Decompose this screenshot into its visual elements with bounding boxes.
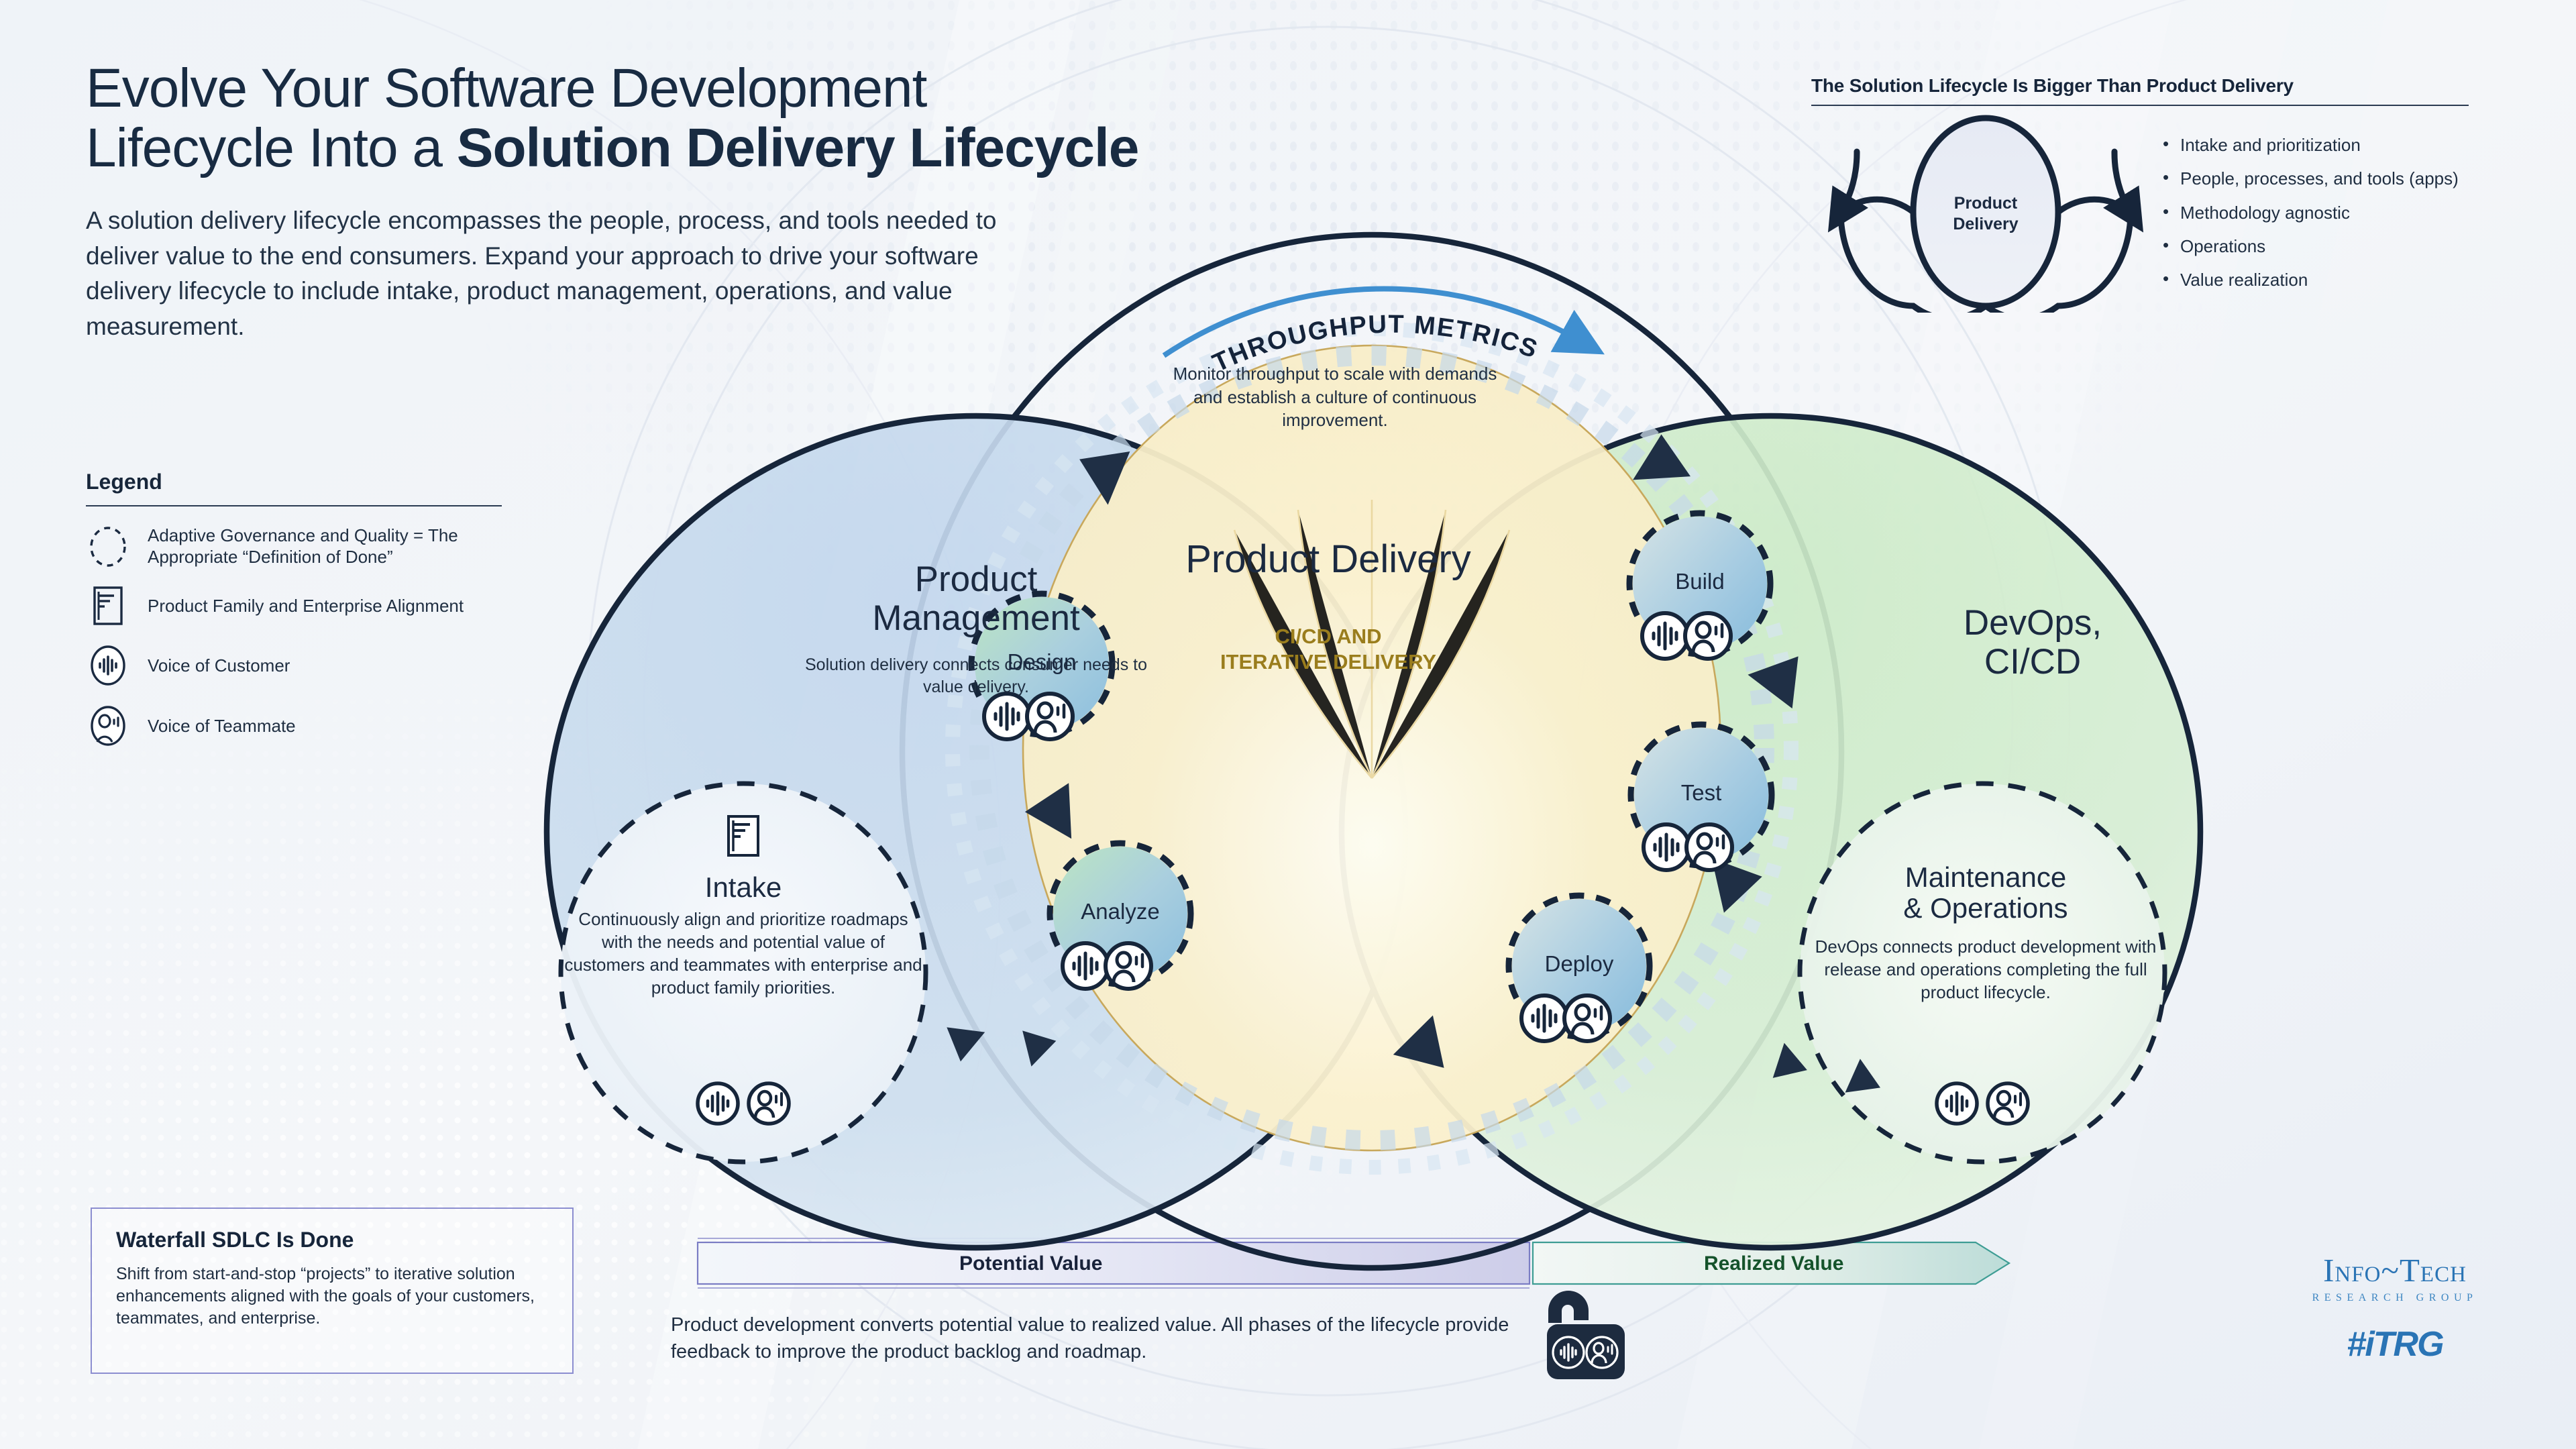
lobe-title-devops-cicd: DevOps,CI/CD [1825, 604, 2241, 682]
legend-title: Legend [86, 470, 515, 494]
info-tech-logo-subtitle: RESEARCH GROUP [2261, 1292, 2529, 1304]
potential-value-label: Potential Value [959, 1252, 1102, 1275]
unlocked-padlock-icon [1547, 1291, 1625, 1379]
node-label-deploy[interactable]: Deploy [1492, 951, 1666, 977]
legend-item-label: Voice of Teammate [148, 716, 296, 737]
document-icon [86, 585, 130, 627]
solution-lifecycle-bullets: Intake and prioritization People, proces… [2160, 111, 2459, 316]
lobe-title-product-management: ProductManagement [755, 560, 1197, 639]
voice-of-customer-icon [86, 644, 130, 687]
intro-paragraph: A solution delivery lifecycle encompasse… [86, 203, 1025, 344]
legend-item-label: Adaptive Governance and Quality = The Ap… [148, 525, 515, 568]
legend: Legend Adaptive Governance and Quality =… [86, 470, 515, 765]
value-flow-note: Product development converts potential v… [671, 1311, 1543, 1365]
solution-lifecycle-box: The Solution Lifecycle Is Bigger Than Pr… [1811, 75, 2509, 316]
legend-item-label: Voice of Customer [148, 655, 290, 677]
waterfall-body: Shift from start-and-stop “projects” to … [116, 1263, 548, 1330]
svg-text:Delivery: Delivery [1953, 215, 2018, 233]
sub-circle-intake-text: Intake Continuously align and prioritize… [562, 872, 924, 999]
legend-item-label: Product Family and Enterprise Alignment [148, 596, 464, 617]
node-label-design[interactable]: Design [955, 649, 1129, 675]
voice-of-teammate-icon [749, 1083, 789, 1124]
dashed-circle-icon [86, 526, 130, 568]
list-item: People, processes, and tools (apps) [2160, 168, 2459, 190]
sub-circle-heading: Intake [562, 872, 924, 903]
legend-item-voice-of-customer: Voice of Customer [86, 644, 515, 687]
solution-lifecycle-divider [1811, 105, 2469, 106]
header: Evolve Your Software Development Lifecyc… [86, 59, 1629, 344]
sub-circle-body: Continuously align and prioritize roadma… [562, 908, 924, 999]
center-core-cicd [1023, 345, 1721, 1150]
venn-diagram: Product Delivery [1811, 111, 2160, 316]
solution-lifecycle-title: The Solution Lifecycle Is Bigger Than Pr… [1811, 75, 2509, 97]
realized-value-label: Realized Value [1704, 1252, 1843, 1275]
legend-divider [86, 505, 502, 506]
sub-circle-maintenance-text: Maintenance& Operations DevOps connects … [1805, 862, 2167, 1004]
branding: INFO~TECH RESEARCH GROUP #iTRG [2261, 1251, 2529, 1364]
title-line-2-bold: Solution Delivery Lifecycle [457, 117, 1139, 178]
info-tech-logo: INFO~TECH [2261, 1251, 2529, 1289]
waterfall-title: Waterfall SDLC Is Done [116, 1228, 548, 1252]
waterfall-box: Waterfall SDLC Is Done Shift from start-… [91, 1207, 574, 1374]
voice-of-teammate-icon [1988, 1083, 2028, 1124]
document-icon [729, 816, 758, 855]
legend-item-product-family-alignment: Product Family and Enterprise Alignment [86, 585, 515, 627]
list-item: Methodology agnostic [2160, 202, 2459, 224]
node-label-test[interactable]: Test [1614, 780, 1788, 806]
list-item: Value realization [2160, 269, 2459, 291]
title-line-2-plain: Lifecycle Into a [86, 117, 457, 178]
list-item: Intake and prioritization [2160, 134, 2459, 156]
voice-of-teammate-icon [86, 704, 130, 747]
itrg-logo: #iTRG [2261, 1324, 2529, 1364]
voice-of-customer-icon [1937, 1083, 1977, 1124]
svg-text:Product: Product [1954, 194, 2018, 213]
list-item: Operations [2160, 235, 2459, 258]
voice-of-customer-icon [698, 1083, 738, 1124]
legend-item-adaptive-governance: Adaptive Governance and Quality = The Ap… [86, 525, 515, 568]
sub-circle-heading: Maintenance& Operations [1805, 862, 2167, 924]
page-title: Evolve Your Software Development Lifecyc… [86, 59, 1629, 178]
node-label-analyze[interactable]: Analyze [1033, 899, 1207, 924]
title-line-1: Evolve Your Software Development [86, 58, 926, 119]
node-label-build[interactable]: Build [1613, 569, 1787, 594]
legend-item-voice-of-teammate: Voice of Teammate [86, 704, 515, 747]
sub-circle-body: DevOps connects product development with… [1805, 936, 2167, 1004]
